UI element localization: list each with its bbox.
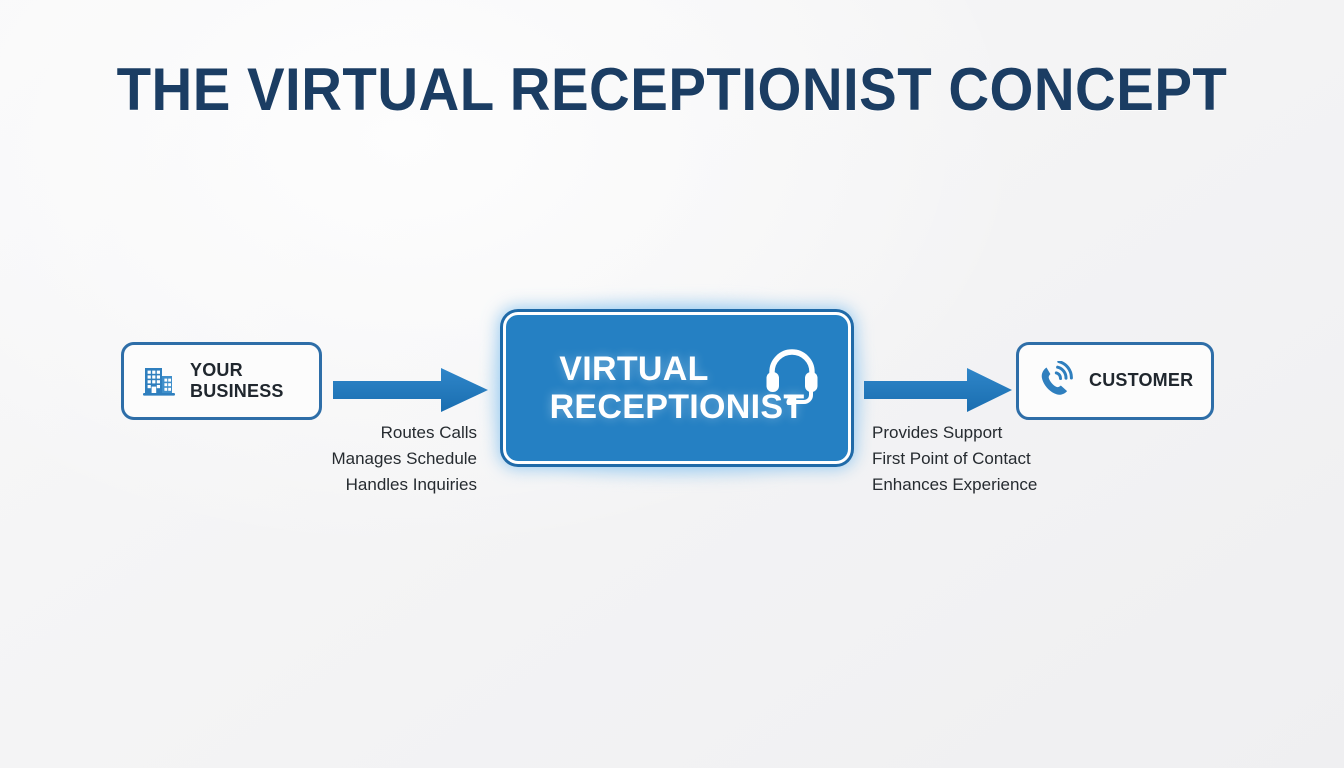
- caption-item: Enhances Experience: [872, 472, 1122, 498]
- caption-item: Routes Calls: [255, 420, 477, 446]
- caption-item: Handles Inquiries: [255, 472, 477, 498]
- caption-item: Provides Support: [872, 420, 1122, 446]
- node-virtual-receptionist[interactable]: VIRTUAL RECEPTIONIST: [503, 312, 851, 464]
- office-building-icon: [140, 362, 178, 400]
- concept-flow-diagram: YOUR BUSINESS VIRTUAL RECEPTIONIST: [0, 0, 1344, 768]
- right-arrow-icon-receptionist-to-customer: [864, 367, 1012, 413]
- node-customer[interactable]: CUSTOMER: [1016, 342, 1214, 420]
- node-label-your-business: YOUR BUSINESS: [190, 360, 284, 402]
- node-label-customer: CUSTOMER: [1089, 370, 1193, 391]
- connector-captions-receptionist-to-customer: Provides Support First Point of Contact …: [872, 420, 1122, 498]
- right-arrow-icon-business-to-receptionist: [333, 367, 488, 413]
- ringing-phone-icon: [1035, 361, 1077, 401]
- caption-item: First Point of Contact: [872, 446, 1122, 472]
- headset-icon: [764, 347, 820, 405]
- connector-captions-business-to-receptionist: Routes Calls Manages Schedule Handles In…: [255, 420, 477, 498]
- caption-item: Manages Schedule: [255, 446, 477, 472]
- node-your-business[interactable]: YOUR BUSINESS: [121, 342, 322, 420]
